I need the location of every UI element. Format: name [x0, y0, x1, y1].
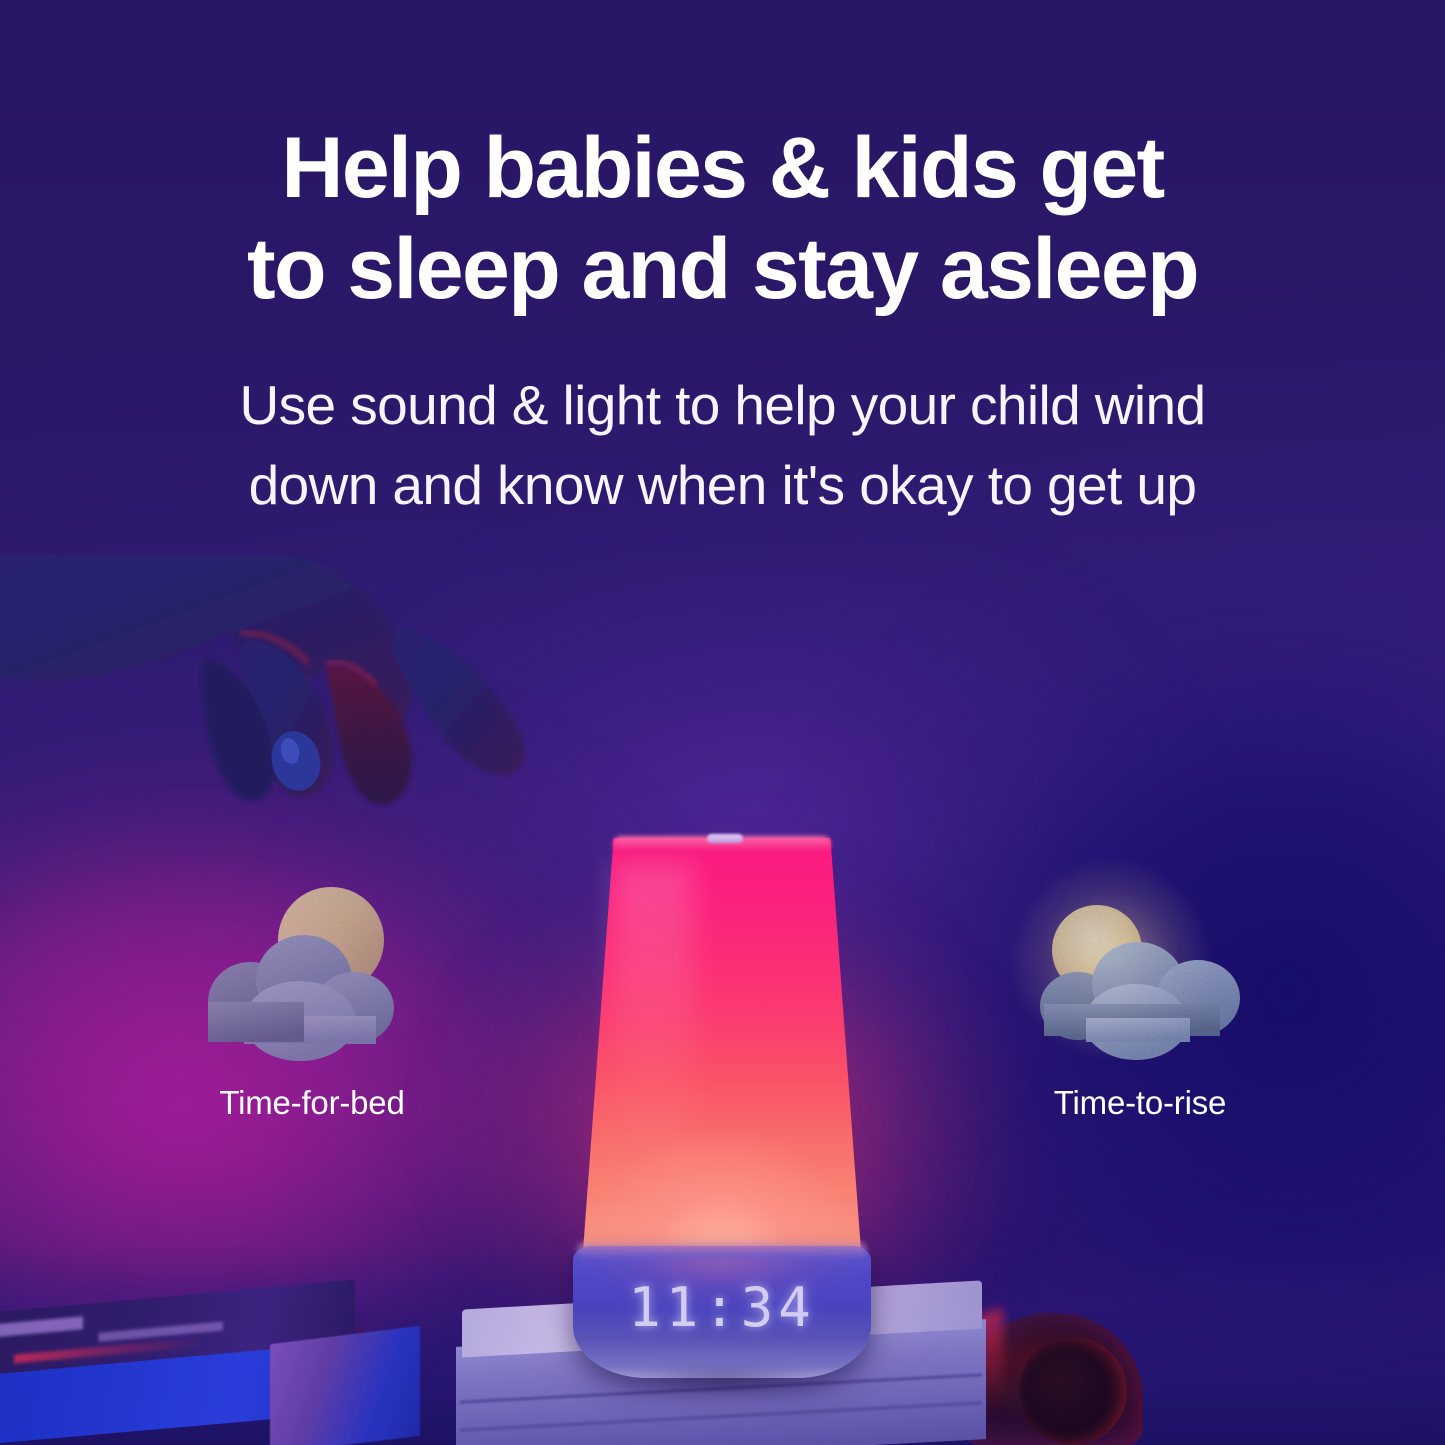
feature-time-to-rise: Time-to-rise [1019, 880, 1261, 1122]
book-stack [0, 1285, 390, 1445]
page-title: Help babies & kids get to sleep and stay… [0, 0, 1445, 321]
headline-line-1: Help babies & kids get [281, 120, 1163, 216]
product-feature-image: Help babies & kids get to sleep and stay… [0, 0, 1445, 1445]
headline-line-2: to sleep and stay asleep [0, 219, 1445, 320]
page-subtitle: Use sound & light to help your child win… [0, 321, 1445, 526]
night-light-device[interactable]: 11:34 [547, 828, 897, 1388]
lamp-base-top-lip [577, 1242, 867, 1258]
lamp-shade-highlight [613, 862, 693, 1222]
lamp-drop-shadow [593, 1366, 853, 1396]
subheadline-line-1: Use sound & light to help your child win… [240, 374, 1206, 436]
copy-block: Help babies & kids get to sleep and stay… [0, 0, 1445, 526]
power-button[interactable] [707, 834, 743, 843]
feature-label-time-for-bed: Time-for-bed [191, 1084, 433, 1122]
sun-behind-cloud-icon [1020, 880, 1260, 1070]
feature-time-for-bed: Time-for-bed [191, 880, 433, 1122]
subheadline-line-2: down and know when it's okay to get up [0, 445, 1445, 525]
feature-label-time-to-rise: Time-to-rise [1019, 1084, 1261, 1122]
moon-behind-cloud-icon [192, 880, 432, 1070]
clock-display: 11:34 [547, 1276, 897, 1339]
